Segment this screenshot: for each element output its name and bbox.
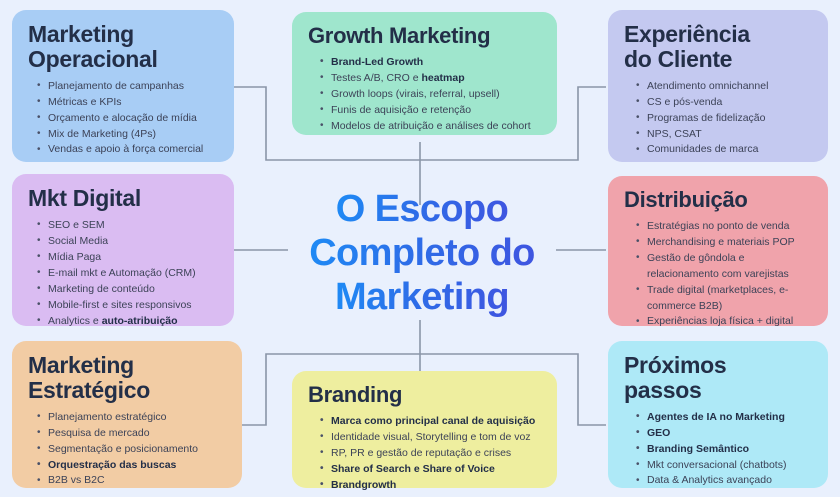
card-bullet-list: Estratégias no ponto de venda Merchandis… xyxy=(636,219,814,331)
card-title: Marketing Estratégico xyxy=(28,353,228,403)
card-title: Branding xyxy=(308,383,543,407)
list-item: Mobile-first e sites responsivos xyxy=(37,298,220,314)
card-marketing-operacional[interactable]: Marketing Operacional Planejamento de ca… xyxy=(12,10,234,162)
list-item-emphasis: auto-atribuição xyxy=(102,315,178,327)
list-item: Share of Search e Share of Voice xyxy=(320,462,543,478)
list-item: Planejamento estratégico xyxy=(37,410,228,426)
card-mkt-digital[interactable]: Mkt Digital SEO e SEM Social Media Mídia… xyxy=(12,174,234,326)
card-experiencia-do-cliente[interactable]: Experiência do Cliente Atendimento omnic… xyxy=(608,10,828,162)
list-item: Analytics e auto-atribuição xyxy=(37,314,220,330)
card-bullet-list: Brand-Led Growth Testes A/B, CRO e heatm… xyxy=(320,55,543,135)
list-item: GEO xyxy=(636,426,814,442)
list-item: Orquestração das buscas xyxy=(37,458,228,474)
list-item: Brand-Led Growth xyxy=(320,55,543,71)
list-item: Planejamento de campanhas xyxy=(37,79,220,95)
card-bullet-list: Marca como principal canal de aquisição … xyxy=(320,414,543,494)
list-item: Brandgrowth xyxy=(320,478,543,494)
list-item: Gestão de gôndola e relacionamento com v… xyxy=(636,251,814,283)
list-item-text: Analytics e xyxy=(48,315,102,327)
card-bullet-list: Planejamento estratégico Pesquisa de mer… xyxy=(37,410,228,490)
list-item: RP, PR e gestão de reputação e crises xyxy=(320,446,543,462)
list-item: E-mail mkt e Automação (CRM) xyxy=(37,266,220,282)
list-item: NPS, CSAT xyxy=(636,127,814,143)
card-growth-marketing[interactable]: Growth Marketing Brand-Led Growth Testes… xyxy=(292,12,557,135)
card-title: Experiência do Cliente xyxy=(624,22,814,72)
list-item: Mix de Marketing (4Ps) xyxy=(37,127,220,143)
card-bullet-list: Planejamento de campanhas Métricas e KPI… xyxy=(37,79,220,159)
list-item: Modelos de atribuição e análises de coho… xyxy=(320,119,543,135)
list-item: Marketing de conteúdo xyxy=(37,282,220,298)
list-item: Trade digital (marketplaces, e-commerce … xyxy=(636,283,814,315)
list-item: Experiências loja física + digital xyxy=(636,314,814,330)
list-item: Métricas e KPIs xyxy=(37,95,220,111)
title-line-2: Completo do xyxy=(309,231,535,275)
list-item: Orçamento e alocação de mídia xyxy=(37,111,220,127)
list-item: Segmentação e posicionamento xyxy=(37,442,228,458)
list-item: Data & Analytics avançado xyxy=(636,473,814,489)
list-item: Vendas e apoio à força comercial xyxy=(37,142,220,158)
card-branding[interactable]: Branding Marca como principal canal de a… xyxy=(292,371,557,488)
central-title-block: O Escopo Completo do Marketing xyxy=(252,178,592,328)
card-bullet-list: Agentes de IA no Marketing GEO Branding … xyxy=(636,410,814,490)
list-item: B2B vs B2C xyxy=(37,473,228,489)
list-item: CS e pós-venda xyxy=(636,95,814,111)
infographic-canvas: Marketing Operacional Planejamento de ca… xyxy=(0,0,840,497)
list-item: Agentes de IA no Marketing xyxy=(636,410,814,426)
card-distribuicao[interactable]: Distribuição Estratégias no ponto de ven… xyxy=(608,176,828,326)
list-item: Merchandising e materiais POP xyxy=(636,235,814,251)
list-item: Mkt conversacional (chatbots) xyxy=(636,458,814,474)
list-item: Comunidades de marca xyxy=(636,142,814,158)
card-title: Mkt Digital xyxy=(28,186,220,211)
list-item: Testes A/B, CRO e heatmap xyxy=(320,71,543,87)
list-item: Mídia Paga xyxy=(37,250,220,266)
title-line-1: O Escopo xyxy=(336,187,509,231)
list-item: Atendimento omnichannel xyxy=(636,79,814,95)
list-item: Identidade visual, Storytelling e tom de… xyxy=(320,430,543,446)
card-bullet-list: SEO e SEM Social Media Mídia Paga E-mail… xyxy=(37,218,220,330)
list-item: SEO e SEM xyxy=(37,218,220,234)
card-bullet-list: Atendimento omnichannel CS e pós-venda P… xyxy=(636,79,814,159)
card-title: Distribuição xyxy=(624,188,814,212)
list-item: Programas de fidelização xyxy=(636,111,814,127)
title-line-3: Marketing xyxy=(335,275,509,319)
list-item: Branding Semântico xyxy=(636,442,814,458)
list-item-text: Testes A/B, CRO e xyxy=(331,72,421,84)
card-title: Próximos passos xyxy=(624,353,814,403)
list-item-emphasis: heatmap xyxy=(421,72,464,84)
list-item: Pesquisa de mercado xyxy=(37,426,228,442)
list-item: Social Media xyxy=(37,234,220,250)
card-title: Growth Marketing xyxy=(308,24,543,48)
list-item: Marca como principal canal de aquisição xyxy=(320,414,543,430)
list-item: Funis de aquisição e retenção xyxy=(320,103,543,119)
list-item: Estratégias no ponto de venda xyxy=(636,219,814,235)
card-title: Marketing Operacional xyxy=(28,22,220,72)
list-item: Growth loops (virais, referral, upsell) xyxy=(320,87,543,103)
card-marketing-estrategico[interactable]: Marketing Estratégico Planejamento estra… xyxy=(12,341,242,488)
card-proximos-passos[interactable]: Próximos passos Agentes de IA no Marketi… xyxy=(608,341,828,488)
